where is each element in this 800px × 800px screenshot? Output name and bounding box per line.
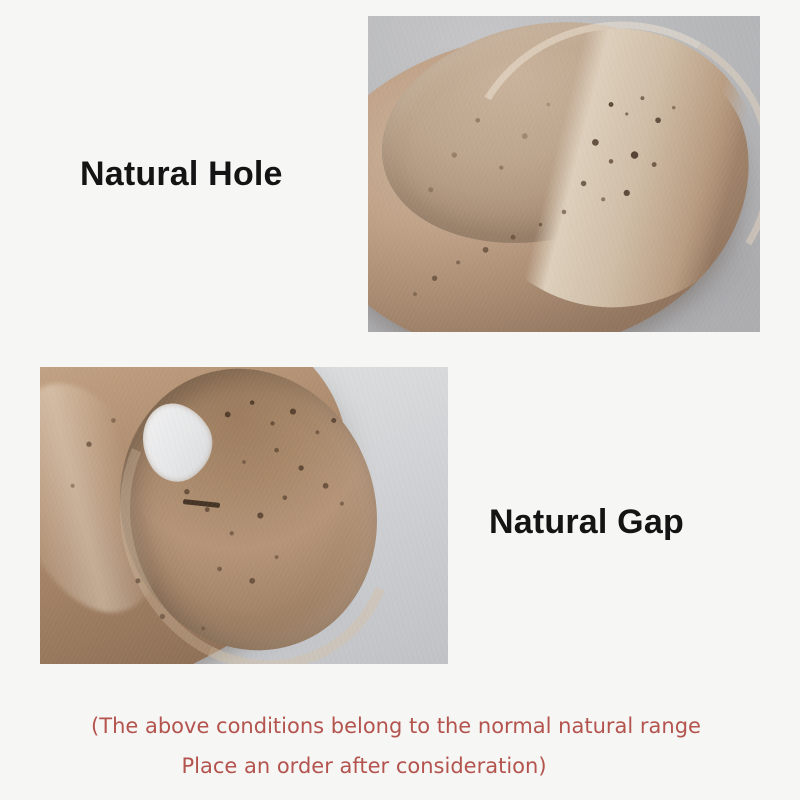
bowl-photo-scene (368, 16, 760, 332)
caption-line-1: (The above conditions belong to the norm… (0, 706, 800, 746)
natural-hole-label: Natural Hole (80, 155, 283, 194)
caption-line-2: Place an order after consideration) (0, 746, 800, 786)
product-detail-panel: Natural Hole Natural Gap (The above cond… (0, 0, 800, 800)
cylinder-photo-scene (40, 367, 448, 664)
natural-gap-label: Natural Gap (489, 503, 684, 542)
disclaimer-caption: (The above conditions belong to the norm… (0, 706, 800, 786)
travertine-bowl-photo (368, 16, 760, 332)
travertine-cylinder-photo (40, 367, 448, 664)
